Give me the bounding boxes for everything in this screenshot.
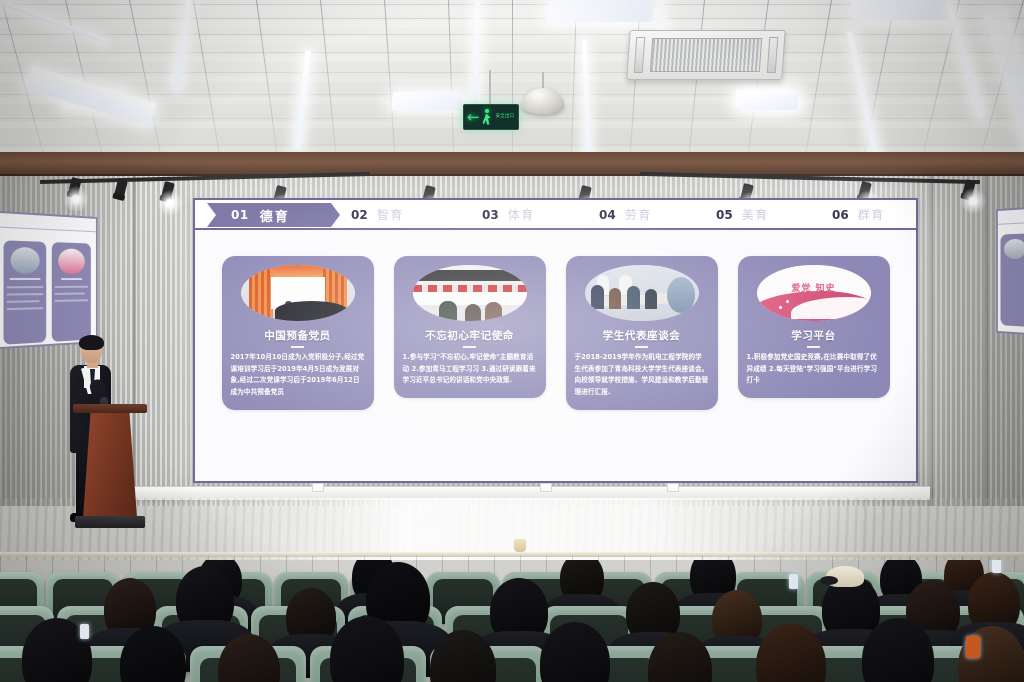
nav-number: 04 [599,208,616,222]
nav-label: 智育 [377,206,404,223]
side-monitor-card-title [10,278,41,280]
card-title: 学习平台 [791,328,835,343]
nav-label: 德育 [260,206,290,225]
presenter-hair [79,335,104,350]
exit-sign-label: 安全出口 [496,114,515,120]
side-monitor-right [996,207,1024,335]
baseboard-clip [667,483,679,492]
nav-label: 体育 [508,206,535,223]
running-person-icon [481,109,494,126]
side-monitor-left [0,211,98,350]
ceiling-panel-light [391,92,463,110]
side-monitor-card-image [11,247,40,274]
side-monitor-card-image [1004,239,1024,260]
exit-sign-stem [489,70,491,106]
card-body: 1.参与学习"不忘初心,牢记使命"主题教育活动 2.参加青马工程学习习 3.通过… [403,352,537,387]
light-flare [960,188,986,214]
paper-cup [514,539,526,552]
stage-floor-reflection [160,498,860,560]
nav-number: 01 [231,208,249,222]
nav-label: 群育 [858,206,885,223]
ac-grille [650,38,762,72]
exit-arrow-icon: ← [467,110,480,125]
lectern-base [75,516,145,528]
ceiling-soffit-band [0,152,1024,176]
auditorium-scene: ← 安全出口 [0,0,1024,682]
slide-card-3[interactable]: 学生代表座谈会 于2018-2019学年作为机电工程学院的学生代表参加了青岛科技… [566,256,718,410]
nav-label: 美育 [742,206,769,223]
baseboard-clip [312,483,324,492]
smartphone[interactable] [966,636,980,658]
nav-label: 劳育 [625,206,652,223]
air-conditioner-unit [626,30,785,80]
nav-item-04[interactable]: 04 劳育 [599,206,652,223]
card-image-party-emblem: 爱党 知史 [757,265,871,321]
card-divider [291,346,304,348]
nav-number: 05 [716,208,733,222]
slide-navbar: 01 德育 02 智育 03 体育 04 劳育 05 美育 06 群育 [195,200,916,230]
slide-card-4[interactable]: 爱党 知史 学习平台 1.积极参加党史国史竞赛,在比赛中取得了优异成绩 2.每天… [738,256,890,398]
lectern-top [73,404,147,413]
nav-item-03[interactable]: 03 体育 [482,206,535,223]
ac-vane [767,37,779,73]
card-divider [463,346,476,348]
card-divider [635,346,648,348]
audience-area [0,560,1024,682]
card-body: 2017年10月10日成为入党积极分子,经过党课培训学习后于2019年4月5日成… [231,352,365,399]
card-title: 不忘初心牢记使命 [425,328,514,343]
projection-screen: 01 德育 02 智育 03 体育 04 劳育 05 美育 06 群育 [193,198,918,483]
smartphone[interactable] [80,624,89,639]
side-monitor-card-title [61,278,82,280]
side-monitor-navbar [0,213,96,232]
light-flare [157,190,183,216]
nav-item-active-01[interactable]: 01 德育 [207,203,340,227]
nav-number: 03 [482,208,499,222]
smartphone[interactable] [789,574,798,589]
nav-number: 02 [351,208,368,222]
ac-vane [634,37,646,73]
light-flare [63,186,89,212]
card-body: 1.积极参加党史国史竞赛,在比赛中取得了优异成绩 2.每天登陆"学习强国"平台进… [747,352,881,387]
baseboard-clip [540,483,552,492]
ceiling-panel-light [742,94,798,110]
nav-number: 06 [832,208,849,222]
ceiling [0,0,1024,162]
slide-card-1[interactable]: 中国预备党员 2017年10月10日成为入党积极分子,经过党课培训学习后于201… [222,256,374,410]
lectern-body [83,412,137,518]
ceiling-panel-light [850,0,949,20]
card-body: 于2018-2019学年作为机电工程学院的学生代表参加了青岛科技大学学生代表座谈… [575,352,709,399]
slide-card-2[interactable]: 不忘初心牢记使命 1.参与学习"不忘初心,牢记使命"主题教育活动 2.参加青马工… [394,256,546,398]
smartphone[interactable] [992,560,1001,573]
card-image-stage-lecture [241,265,355,321]
card-title: 学生代表座谈会 [603,328,681,343]
nav-item-05[interactable]: 05 美育 [716,206,769,223]
card-image-ceremony [413,265,527,321]
lectern [79,404,141,529]
side-monitor-card-image [58,248,85,274]
side-monitor-navbar [998,209,1024,225]
nav-item-06[interactable]: 06 群育 [832,206,885,223]
card-divider [807,346,820,348]
slide-card-row: 中国预备党员 2017年10月10日成为入党积极分子,经过党课培训学习后于201… [195,230,916,481]
side-monitor-card-text [55,286,89,288]
card-image-roundtable [585,265,699,321]
side-monitor-card-text [7,286,44,288]
baseball-cap [826,566,864,587]
ceiling-panel-light [545,0,657,22]
card-title: 中国预备党员 [264,328,331,343]
exit-sign: ← 安全出口 [463,104,519,130]
nav-item-02[interactable]: 02 智育 [351,206,404,223]
